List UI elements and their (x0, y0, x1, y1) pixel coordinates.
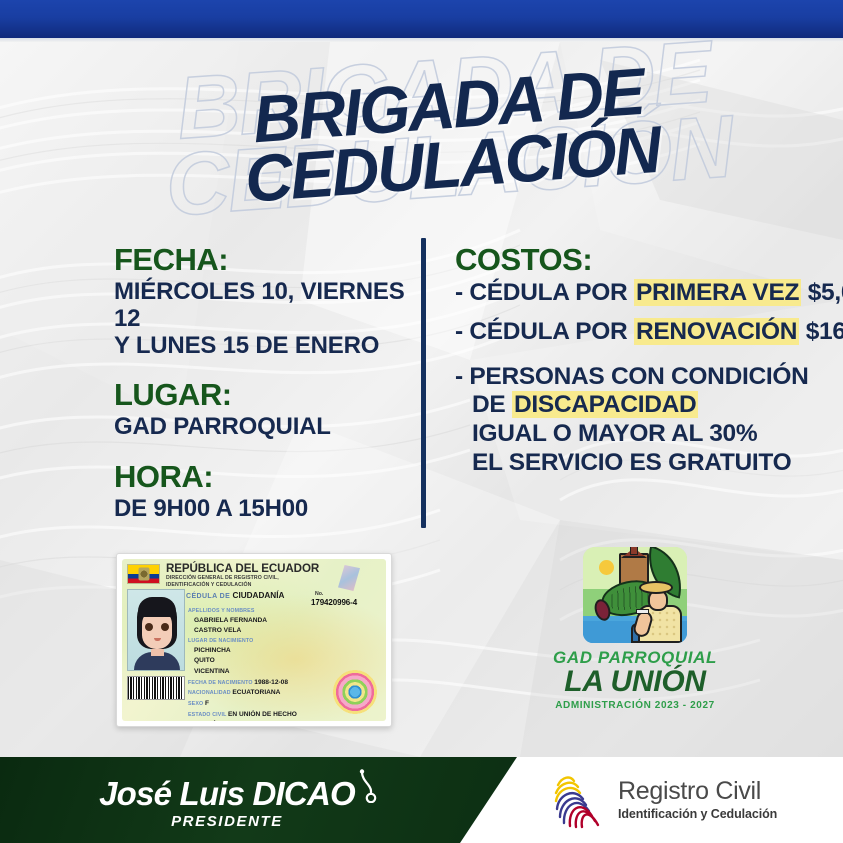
cost-pre-1: CÉDULA POR (469, 279, 634, 306)
field-sex-value: F (205, 700, 209, 707)
lugar-line-1: GAD PARROQUIAL (114, 414, 414, 441)
fecha-line-2: Y LUNES 15 DE ENERO (114, 333, 414, 360)
lugar-heading: LUGAR: (114, 379, 414, 412)
note-line-3: IGUAL O MAYOR AL 30% (455, 420, 825, 449)
id-card-inner: REPÚBLICA DEL ECUADOR DIRECCIÓN GENERAL … (122, 559, 386, 721)
id-doc-label-text: CÉDULA DE (186, 593, 230, 600)
note-highlight-discapacidad: DISCAPACIDAD (512, 391, 698, 418)
cost-dash-1: - (455, 279, 463, 307)
registro-civil-subtitle: Identificación y Cedulación (618, 807, 777, 821)
field-names-2: CASTRO VELA (188, 626, 297, 637)
id-card-image: REPÚBLICA DEL ECUADOR DIRECCIÓN GENERAL … (116, 553, 392, 727)
footer-person-role: PRESIDENTE (62, 813, 392, 830)
field-names-label: APELLIDOS Y NOMBRES (188, 607, 297, 616)
registro-civil-title: Registro Civil (618, 779, 777, 804)
cost-highlight-2: RENOVACIÓN (634, 318, 799, 345)
cost-item-renovacion: - CÉDULA POR RENOVACIÓN $16,00 (455, 318, 825, 346)
left-info-column: FECHA: MIÉRCOLES 10, VIERNES 12 Y LUNES … (114, 244, 414, 523)
hologram-icon (338, 565, 360, 591)
gad-line-2: LA UNIÓN (545, 667, 725, 697)
id-number-label: No. (315, 591, 323, 597)
farmer-hat-icon (639, 581, 673, 594)
fingerprint-icon (548, 771, 606, 829)
footer-bar: José Luis DICAO PRESIDENTE (0, 757, 843, 843)
field-sex-label: SEXO (188, 701, 203, 707)
cost-dash-2: - (455, 318, 463, 346)
info-block-lugar: LUGAR: GAD PARROQUIAL (114, 379, 414, 441)
coat-of-arms-icon (138, 568, 149, 581)
footer-person-name: José Luis DICAO (62, 775, 392, 813)
field-marital-label: ESTADO CIVIL (188, 712, 226, 718)
gad-line-3: ADMINISTRACIÓN 2023 - 2027 (545, 700, 725, 711)
id-portrait-photo (127, 589, 185, 671)
barcode-icon (127, 676, 185, 700)
field-birthplace-label: LUGAR DE NACIMIENTO (188, 637, 297, 646)
info-block-hora: HORA: DE 9H00 A 15H00 (114, 461, 414, 523)
id-agency-subtitle: DIRECCIÓN GENERAL DE REGISTRO CIVIL, IDE… (166, 575, 279, 589)
field-nationality-value: ECUATORIANA (232, 689, 280, 696)
cost-post-1: $5,00 (801, 279, 843, 306)
hora-line-1: DE 9H00 A 15H00 (114, 496, 414, 523)
field-birthdate-value: 1988-12-08 (254, 679, 288, 686)
gad-badge-illustration (583, 547, 687, 643)
cost-pre-2: CÉDULA POR (469, 318, 634, 345)
field-nationality-row: NACIONALIDAD ECUATORIANA (188, 688, 297, 699)
note-line-2-pre: DE (472, 391, 512, 418)
note-line-4: EL SERVICIO ES GRATUITO (455, 449, 825, 478)
field-sex-row: SEXO F (188, 699, 297, 710)
poster-canvas: BRIGADA DE CEDULACIÓN BRIGADA DE CEDULAC… (0, 0, 843, 843)
field-spouse-1: GARCÍA COBOS (188, 720, 297, 721)
ecuador-flag-icon (127, 564, 160, 584)
field-birthplace-1: PICHINCHA (188, 646, 297, 657)
gad-parroquial-logo: GAD PARROQUIAL LA UNIÓN ADMINISTRACIÓN 2… (545, 547, 725, 711)
stethoscope-icon (358, 769, 384, 803)
info-block-fecha: FECHA: MIÉRCOLES 10, VIERNES 12 Y LUNES … (114, 244, 414, 359)
top-bar-edge (0, 38, 843, 42)
id-field-list: APELLIDOS Y NOMBRES GABRIELA FERNANDA CA… (188, 607, 297, 721)
fecha-heading: FECHA: (114, 244, 414, 277)
cost-post-2: $16,00 (799, 318, 843, 345)
right-costs-column: COSTOS: - CÉDULA POR PRIMERA VEZ $5,00 -… (455, 244, 825, 477)
id-doc-label: CÉDULA DE CIUDADANÍA (186, 591, 284, 600)
field-nationality-label: NACIONALIDAD (188, 690, 231, 696)
id-doc-type: CIUDADANÍA (233, 591, 285, 600)
cost-item-primera-vez: - CÉDULA POR PRIMERA VEZ $5,00 (455, 279, 825, 307)
sun-icon (599, 560, 614, 575)
top-blue-bar (0, 0, 843, 38)
cost-note-discapacidad: - PERSONAS CON CONDICIÓN DE DISCAPACIDAD… (455, 363, 825, 478)
registro-civil-text: Registro Civil Identificación y Cedulaci… (618, 779, 777, 821)
field-birthplace-3: VICENTINA (188, 667, 297, 678)
costos-heading: COSTOS: (455, 244, 825, 277)
column-divider (421, 238, 426, 528)
field-birthplace-2: QUITO (188, 656, 297, 667)
portrait-eye-right (161, 623, 169, 631)
portrait-eye-left (145, 623, 153, 631)
church-steeple-icon (630, 547, 638, 555)
cost-highlight-1: PRIMERA VEZ (634, 279, 801, 306)
fecha-line-1: MIÉRCOLES 10, VIERNES 12 (114, 279, 414, 333)
id-country-title: REPÚBLICA DEL ECUADOR (166, 562, 319, 575)
field-marital-row: ESTADO CIVIL EN UNIÓN DE HECHO (188, 710, 297, 721)
note-line-2: DE DISCAPACIDAD (455, 391, 825, 420)
id-number-value: 179420996-4 (311, 598, 357, 607)
field-birthdate-label: FECHA DE NACIMIENTO (188, 680, 253, 686)
field-names-1: GABRIELA FERNANDA (188, 616, 297, 627)
security-rosette-icon (330, 667, 380, 717)
farmer-watch (636, 609, 649, 614)
field-marital-value: EN UNIÓN DE HECHO (228, 711, 297, 718)
hora-heading: HORA: (114, 461, 414, 494)
field-birthdate-row: FECHA DE NACIMIENTO 1988-12-08 (188, 678, 297, 689)
registro-civil-logo: Registro Civil Identificación y Cedulaci… (548, 771, 777, 829)
note-line-1: - PERSONAS CON CONDICIÓN (455, 363, 809, 390)
portrait-bangs (138, 597, 176, 617)
